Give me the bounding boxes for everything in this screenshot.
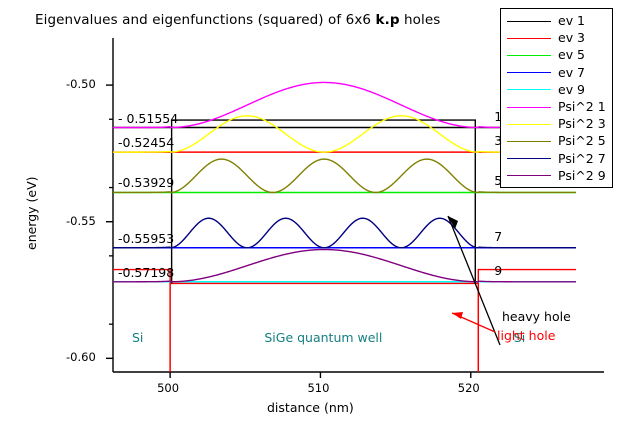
y-tick-label: -0.50 bbox=[66, 77, 96, 91]
legend-label-3: ev 7 bbox=[558, 66, 585, 80]
legend-item-8[interactable]: Psi^2 7 bbox=[507, 152, 606, 166]
legend-label-6: Psi^2 3 bbox=[558, 117, 606, 131]
legend-item-7[interactable]: Psi^2 5 bbox=[507, 134, 606, 148]
legend-label-9: Psi^2 9 bbox=[558, 169, 606, 183]
psi2-curve-9 bbox=[113, 250, 576, 282]
energy-value-3: -0.52454 bbox=[118, 135, 174, 150]
legend-label-2: ev 5 bbox=[558, 48, 585, 62]
legend-swatch-9 bbox=[507, 175, 551, 176]
light-hole-arrow-head bbox=[452, 312, 463, 319]
legend-item-9[interactable]: Psi^2 9 bbox=[507, 169, 606, 183]
heavy-hole-band-edge bbox=[172, 120, 476, 283]
energy-value-9: -0.57198 bbox=[118, 265, 174, 280]
heavy-hole-annotation: heavy hole bbox=[502, 309, 571, 324]
energy-value-5: -0.53929 bbox=[118, 175, 174, 190]
legend-swatch-4 bbox=[507, 89, 551, 90]
x-axis-label: distance (nm) bbox=[267, 400, 354, 415]
x-tick-label: 500 bbox=[157, 381, 179, 395]
legend-item-1[interactable]: ev 3 bbox=[507, 31, 585, 45]
y-axis-label: energy (eV) bbox=[24, 176, 39, 250]
legend: ev 1ev 3ev 5ev 7ev 9Psi^2 1Psi^2 3Psi^2 … bbox=[500, 8, 613, 188]
legend-swatch-6 bbox=[507, 124, 551, 125]
legend-label-4: ev 9 bbox=[558, 83, 585, 97]
psi2-curve-7 bbox=[113, 218, 576, 248]
x-tick-label: 520 bbox=[458, 381, 480, 395]
level-number-9: 9 bbox=[494, 263, 502, 278]
level-number-1: 1 bbox=[494, 109, 502, 124]
region-label-1: SiGe quantum well bbox=[264, 330, 382, 345]
x-tick-label: 510 bbox=[307, 381, 329, 395]
level-number-5: 5 bbox=[494, 173, 502, 188]
energy-value-7: -0.55953 bbox=[118, 231, 174, 246]
legend-label-5: Psi^2 1 bbox=[558, 100, 606, 114]
legend-swatch-8 bbox=[507, 158, 551, 159]
energy-value-1: - 0.51554 bbox=[118, 111, 178, 126]
legend-item-6[interactable]: Psi^2 3 bbox=[507, 117, 606, 131]
legend-label-1: ev 3 bbox=[558, 31, 585, 45]
legend-swatch-2 bbox=[507, 55, 551, 56]
legend-item-5[interactable]: Psi^2 1 bbox=[507, 100, 606, 114]
y-tick-label: -0.55 bbox=[66, 214, 96, 228]
legend-item-2[interactable]: ev 5 bbox=[507, 48, 585, 62]
legend-swatch-7 bbox=[507, 141, 551, 142]
level-number-3: 3 bbox=[494, 133, 502, 148]
y-tick-label: -0.60 bbox=[66, 350, 96, 364]
legend-swatch-1 bbox=[507, 38, 551, 39]
level-number-7: 7 bbox=[494, 229, 502, 244]
legend-label-0: ev 1 bbox=[558, 14, 585, 28]
legend-item-4[interactable]: ev 9 bbox=[507, 83, 585, 97]
legend-item-3[interactable]: ev 7 bbox=[507, 66, 585, 80]
legend-label-8: Psi^2 7 bbox=[558, 152, 606, 166]
region-label-0: Si bbox=[132, 330, 143, 345]
legend-swatch-3 bbox=[507, 72, 551, 73]
legend-swatch-5 bbox=[507, 107, 551, 108]
light-hole-annotation: light hole bbox=[497, 328, 555, 343]
chart-root: Eigenvalues and eigenfunctions (squared)… bbox=[0, 0, 621, 436]
legend-label-7: Psi^2 5 bbox=[558, 134, 606, 148]
legend-swatch-0 bbox=[507, 21, 551, 22]
legend-item-0[interactable]: ev 1 bbox=[507, 14, 585, 28]
